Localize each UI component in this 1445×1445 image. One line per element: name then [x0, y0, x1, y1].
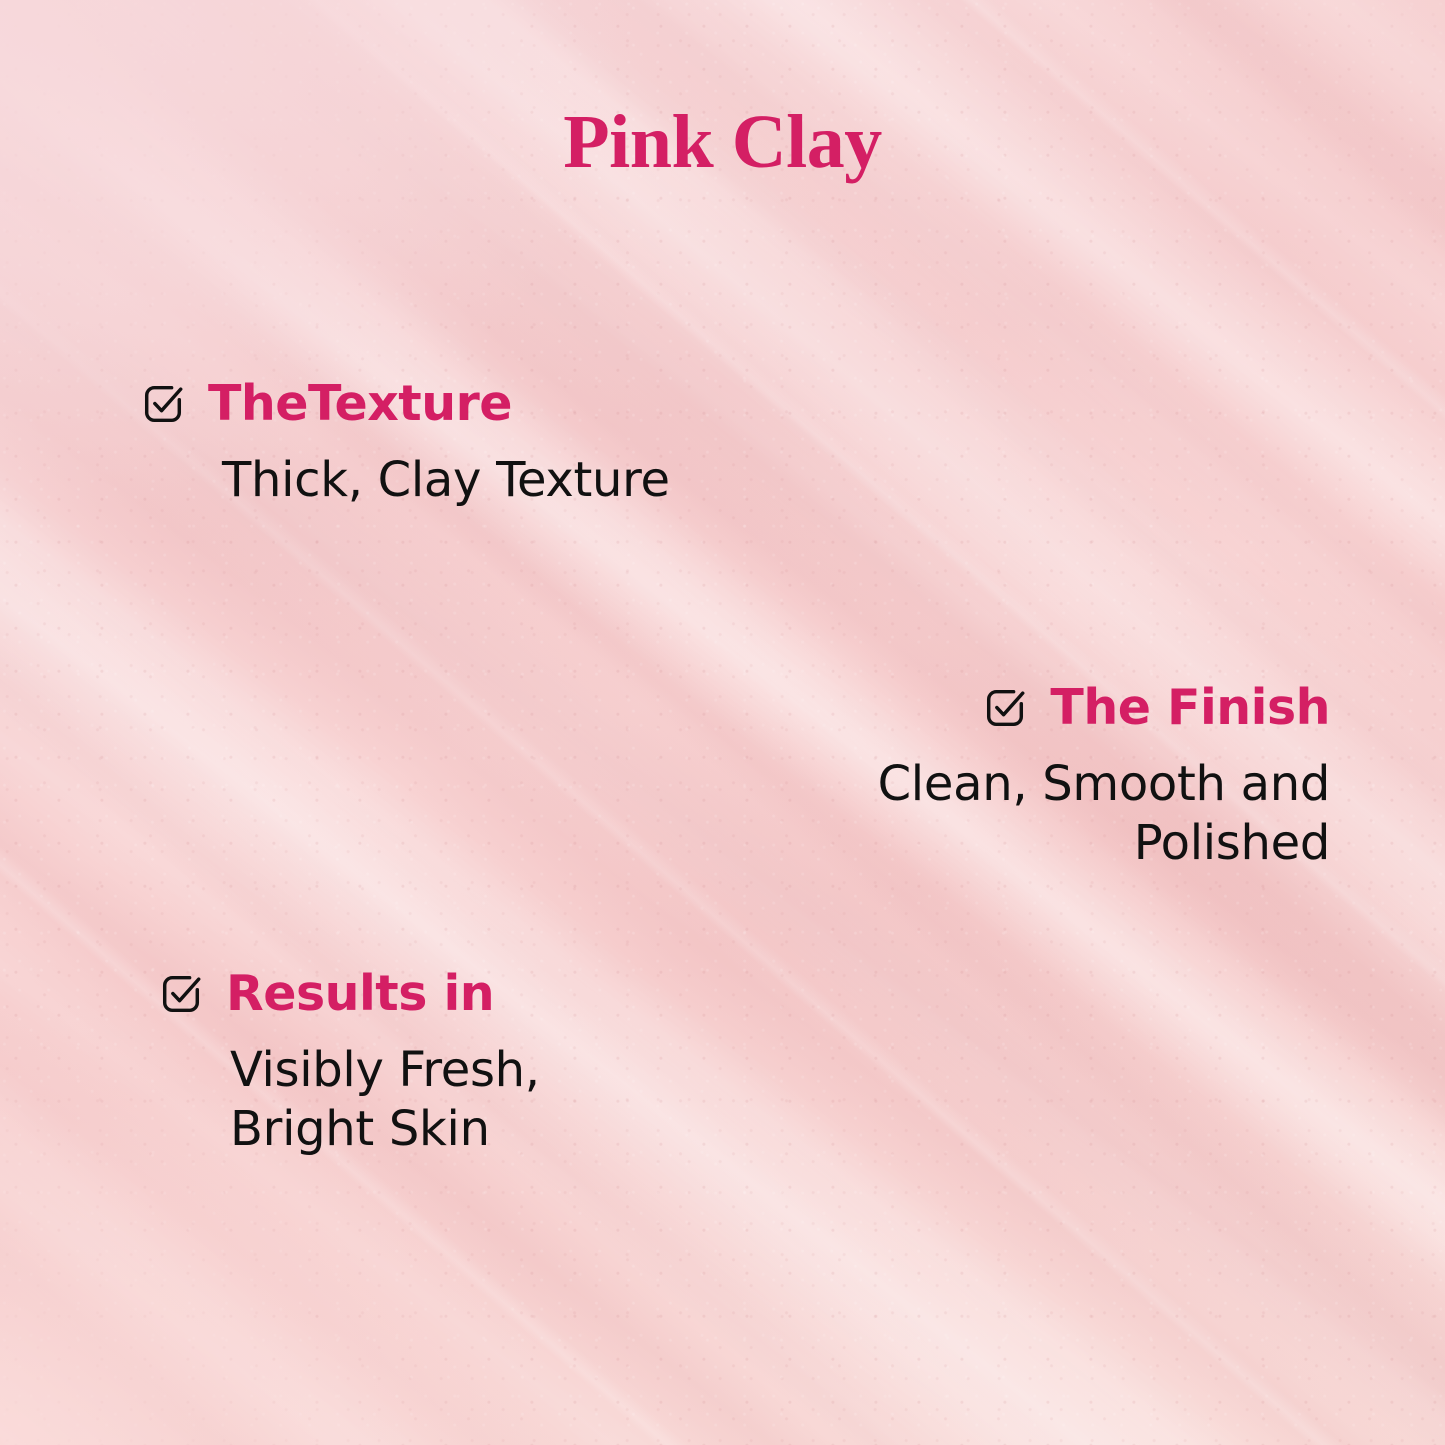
feature-the-finish: The Finish Clean, Smooth and Polished — [878, 682, 1330, 873]
feature-heading-row: Results in — [158, 968, 540, 1019]
feature-results-in: Results in Visibly Fresh, Bright Skin — [158, 968, 540, 1159]
feature-heading-row: The Finish — [878, 682, 1330, 733]
feature-title-label: The Finish — [1050, 682, 1330, 733]
feature-description: Clean, Smooth and Polished — [878, 755, 1330, 872]
pink-clay-infographic: Pink Clay TheTexture Thick, Clay Texture — [0, 0, 1445, 1445]
feature-heading-row: TheTexture — [140, 378, 670, 429]
check-square-icon — [982, 685, 1028, 731]
page-title: Pink Clay — [0, 104, 1445, 180]
content-overlay: Pink Clay TheTexture Thick, Clay Texture — [0, 0, 1445, 1445]
feature-title-label: Results in — [226, 968, 494, 1019]
feature-description: Visibly Fresh, Bright Skin — [230, 1041, 540, 1158]
feature-title-label: TheTexture — [208, 378, 512, 429]
check-square-icon — [140, 381, 186, 427]
feature-the-texture: TheTexture Thick, Clay Texture — [140, 378, 670, 510]
check-square-icon — [158, 971, 204, 1017]
feature-description: Thick, Clay Texture — [222, 451, 670, 510]
